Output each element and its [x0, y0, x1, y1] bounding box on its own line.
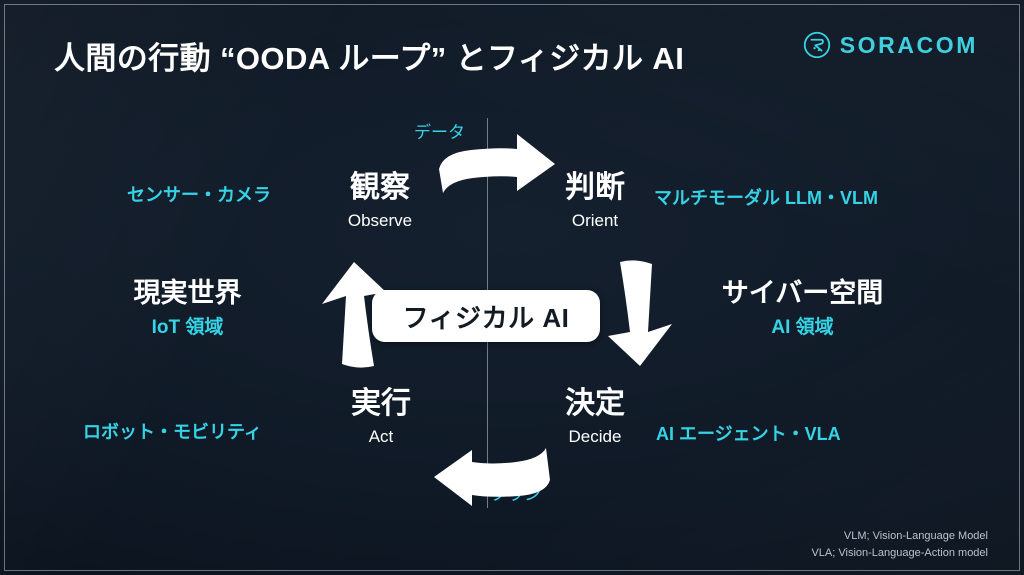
annotation-multimodal-llm: マルチモーダル LLM・VLM [654, 184, 878, 210]
curved-arrow-right-icon [437, 131, 559, 209]
domain-real-world: 現実世界 IoT 領域 [95, 278, 280, 339]
node-observe: 観察 Observe [315, 172, 445, 231]
footnote-vlm: VLM; Vision-Language Model [811, 528, 988, 545]
soracom-circle-logo-icon [803, 31, 831, 59]
domain-real-world-title: 現実世界 [95, 278, 280, 308]
domain-cyberspace-title: サイバー空間 [690, 278, 915, 308]
annotation-ai-agent-vla: AI エージェント・VLA [656, 420, 841, 446]
node-observe-en: Observe [315, 211, 445, 231]
slide-canvas: 人間の行動 “OODA ループ” とフィジカル AI SORACOM 観察 Ob… [0, 0, 1024, 575]
center-physical-ai-badge: フィジカル AI [372, 290, 600, 342]
footnotes: VLM; Vision-Language Model VLA; Vision-L… [811, 528, 988, 561]
domain-cyberspace-subtitle: AI 領域 [690, 312, 915, 339]
node-observe-jp: 観察 [315, 172, 445, 204]
node-decide-en: Decide [538, 427, 652, 447]
arrow-down-icon [600, 258, 684, 370]
node-orient-en: Orient [540, 211, 650, 231]
node-act-en: Act [318, 427, 444, 447]
soracom-logo: SORACOM [803, 31, 978, 59]
annotation-robot-mobility: ロボット・モビリティ [83, 418, 262, 444]
center-physical-ai-label: フィジカル AI [403, 298, 570, 335]
soracom-logo-text: SORACOM [840, 32, 978, 59]
node-decide: 決定 Decide [538, 388, 652, 447]
domain-cyberspace: サイバー空間 AI 領域 [690, 278, 915, 339]
curved-arrow-left-icon [430, 432, 552, 506]
page-title: 人間の行動 “OODA ループ” とフィジカル AI [54, 33, 684, 78]
node-decide-jp: 決定 [538, 388, 652, 420]
domain-real-world-subtitle: IoT 領域 [95, 312, 280, 339]
arrow-up-icon [310, 258, 394, 370]
node-act: 実行 Act [318, 388, 444, 447]
node-act-jp: 実行 [318, 388, 444, 420]
annotation-sensor-camera: センサー・カメラ [127, 181, 271, 207]
footnote-vla: VLA; Vision-Language-Action model [811, 545, 988, 562]
